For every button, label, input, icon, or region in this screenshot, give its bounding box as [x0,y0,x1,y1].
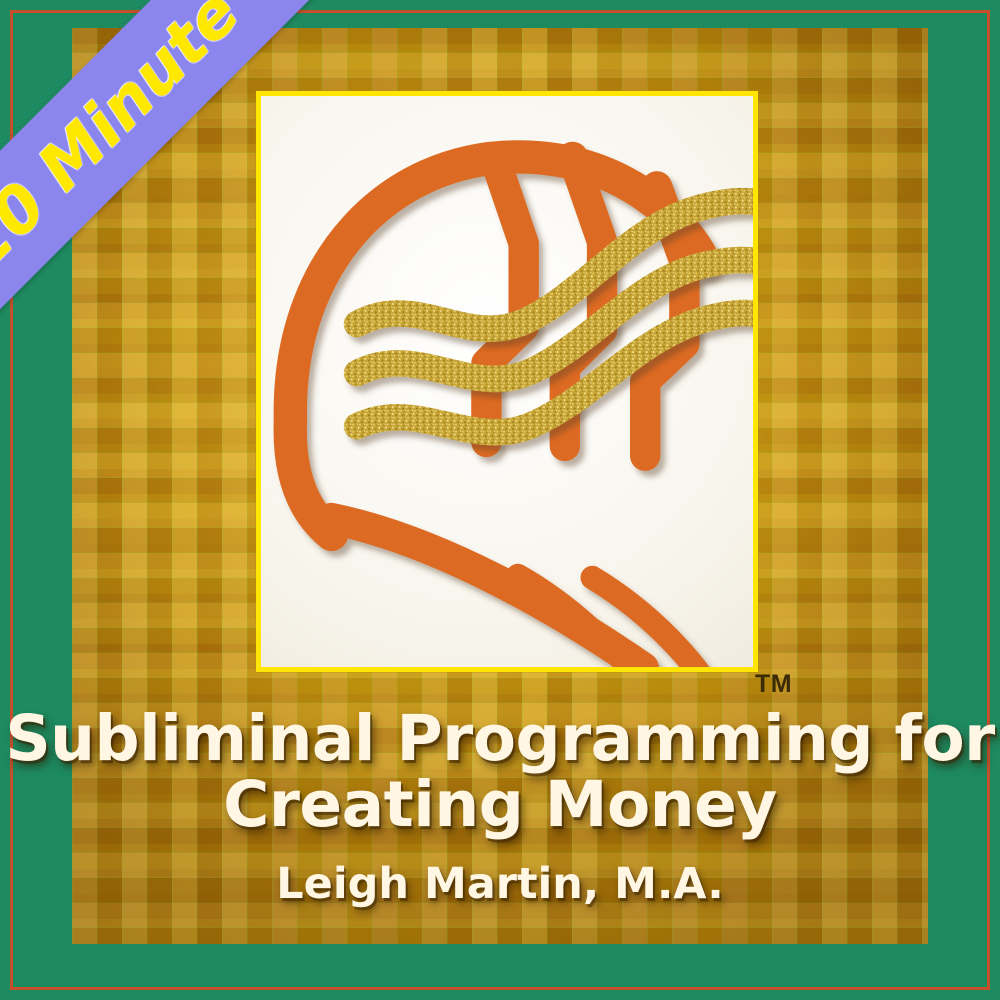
album-cover: TM Subliminal Programming for Creating M… [0,0,1000,1000]
title-line-1: Subliminal Programming for [0,706,1000,772]
trademark-symbol: TM [755,672,792,697]
head-profile-logo [261,96,753,667]
hair-strand-1 [486,163,523,442]
title-line-2: Creating Money [0,772,1000,838]
title-block: Subliminal Programming for Creating Mone… [0,706,1000,908]
logo-panel [256,91,758,672]
author-name: Leigh Martin, M.A. [0,860,1000,908]
